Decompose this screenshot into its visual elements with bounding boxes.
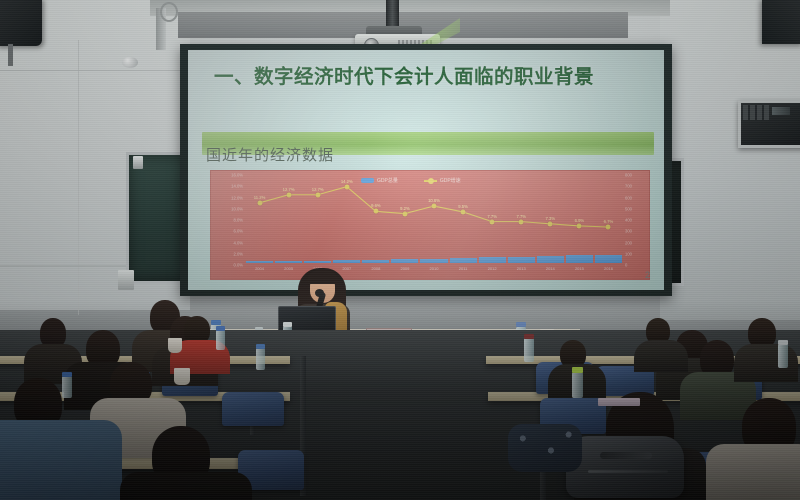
slide-title: 一、数字经济时代下会计人面临的职业背景 — [214, 64, 644, 90]
chart-data-label: 9.5% — [458, 204, 468, 209]
right-axis-tick: 200 — [625, 240, 632, 245]
right-axis-tick: 500 — [625, 206, 632, 211]
chart-line-marker — [257, 200, 262, 205]
left-axis-tick: 12.0% — [231, 195, 243, 200]
chart-data-label: 14.2% — [341, 179, 353, 184]
x-axis-label: 2009 — [390, 266, 419, 276]
chart-data-label: 7.3% — [546, 216, 556, 221]
chalk-tray — [118, 270, 134, 290]
chart-data-label: 7.7% — [516, 214, 526, 219]
chart-line-marker — [432, 204, 437, 209]
chart-line-marker — [402, 211, 407, 216]
right-axis-tick: 300 — [625, 229, 632, 234]
paper-cup — [174, 368, 190, 385]
water-bottle-cap — [256, 344, 265, 349]
x-axis-label: 2012 — [478, 266, 507, 276]
water-bottle-cap — [211, 320, 221, 325]
projection-screen: 一、数字经济时代下会计人面临的职业背景 国近年的经济数据 GDP总量 GDP增速… — [188, 50, 664, 290]
chart-line-marker — [606, 224, 611, 229]
microphone-head-icon — [315, 289, 324, 297]
panel-screen-glow — [772, 107, 790, 115]
gdp-chart: GDP总量 GDP增速 16.0%14.0%12.0%10.0%8.0%6.0%… — [210, 170, 650, 280]
water-bottle — [216, 330, 225, 350]
lecture-hall-photo: 一、数字经济时代下会计人面临的职业背景 国近年的经济数据 GDP总量 GDP增速… — [0, 0, 800, 500]
notebook — [598, 398, 640, 406]
chart-data-label: 11.2% — [254, 195, 266, 200]
left-axis-tick: 0.0% — [233, 263, 243, 268]
water-bottle-cap — [283, 322, 292, 327]
chart-data-label: 10.6% — [428, 198, 440, 203]
panel-button-grid-icon — [743, 105, 769, 120]
x-axis-label: 2013 — [507, 266, 536, 276]
backpack — [566, 436, 684, 498]
chart-right-axis: 8007006005004003002001000 — [625, 175, 647, 265]
chart-data-label: 9.2% — [400, 206, 410, 211]
right-axis-tick: 0 — [625, 263, 627, 268]
speaker-mount-stem — [8, 44, 13, 66]
wall-speaker-left — [0, 0, 42, 46]
chart-data-label: 6.9% — [575, 218, 585, 223]
student-body — [120, 472, 252, 500]
water-bottle — [256, 348, 265, 370]
paper-cup — [168, 338, 182, 353]
x-axis-label: 2015 — [565, 266, 594, 276]
left-axis-tick: 10.0% — [231, 206, 243, 211]
water-bottle — [572, 372, 583, 398]
x-axis-label: 2016 — [594, 266, 623, 276]
chart-line-series — [245, 177, 623, 263]
chart-plot-area: 11.2%12.7%12.7%14.2%9.6%9.2%10.6%9.5%7.7… — [245, 177, 623, 263]
chart-data-label: 12.7% — [312, 187, 324, 192]
chart-data-label: 7.7% — [487, 214, 497, 219]
chart-line-marker — [344, 184, 349, 189]
student-body — [0, 420, 122, 500]
wall-speaker-right — [762, 0, 800, 44]
chart-line-marker — [577, 223, 582, 228]
water-bottle-cap — [62, 372, 72, 377]
x-axis-label: 2010 — [419, 266, 448, 276]
slide-page-number: 2 — [645, 270, 650, 280]
smoke-detector-icon — [122, 57, 138, 68]
chart-data-label: 12.7% — [283, 187, 295, 192]
chart-line-marker — [315, 192, 320, 197]
water-bottle-cap — [516, 322, 526, 327]
wall-seam — [78, 40, 79, 315]
student-chair — [222, 392, 284, 426]
student-body — [706, 444, 800, 500]
water-bottle — [778, 344, 788, 368]
left-axis-tick: 4.0% — [233, 240, 243, 245]
chart-line-marker — [548, 221, 553, 226]
left-axis-tick: 16.0% — [231, 173, 243, 178]
right-axis-tick: 700 — [625, 184, 632, 189]
presenter-hair-front — [307, 270, 338, 284]
left-axis-tick: 6.0% — [233, 229, 243, 234]
right-axis-tick: 100 — [625, 251, 632, 256]
slide-subtitle: 国近年的经济数据 — [206, 144, 506, 165]
chart-line-marker — [373, 209, 378, 214]
backpack-strap — [600, 452, 652, 459]
water-bottle-cap — [778, 340, 788, 345]
chart-data-label: 9.6% — [371, 203, 381, 208]
left-axis-tick: 8.0% — [233, 218, 243, 223]
left-axis-tick: 2.0% — [233, 251, 243, 256]
chalkboard-clip — [133, 156, 143, 169]
x-axis-label: 2004 — [245, 266, 274, 276]
wall-seam — [0, 70, 190, 71]
right-axis-tick: 800 — [625, 173, 632, 178]
water-bottle-cap — [216, 326, 225, 331]
chart-data-label: 6.7% — [604, 219, 614, 224]
left-axis-tick: 14.0% — [231, 184, 243, 189]
x-axis-label: 2011 — [449, 266, 478, 276]
water-bottle-cap — [524, 334, 534, 339]
chart-line-marker — [286, 192, 291, 197]
backpack-polka-bag — [508, 424, 582, 472]
student-body — [734, 344, 798, 382]
right-axis-tick: 400 — [625, 218, 632, 223]
x-axis-label: 2014 — [536, 266, 565, 276]
chart-line-marker — [519, 219, 524, 224]
backpack-zipper — [588, 470, 668, 473]
x-axis-label: 2008 — [361, 266, 390, 276]
chart-left-axis: 16.0%14.0%12.0%10.0%8.0%6.0%4.0%2.0%0.0% — [213, 175, 243, 265]
chart-line-marker — [461, 209, 466, 214]
ceiling-hook — [160, 2, 178, 22]
water-bottle-cap — [572, 367, 583, 373]
water-bottle — [62, 376, 72, 398]
water-bottle — [524, 338, 534, 362]
student-body — [634, 340, 688, 372]
right-axis-tick: 600 — [625, 195, 632, 200]
chart-line-marker — [490, 219, 495, 224]
